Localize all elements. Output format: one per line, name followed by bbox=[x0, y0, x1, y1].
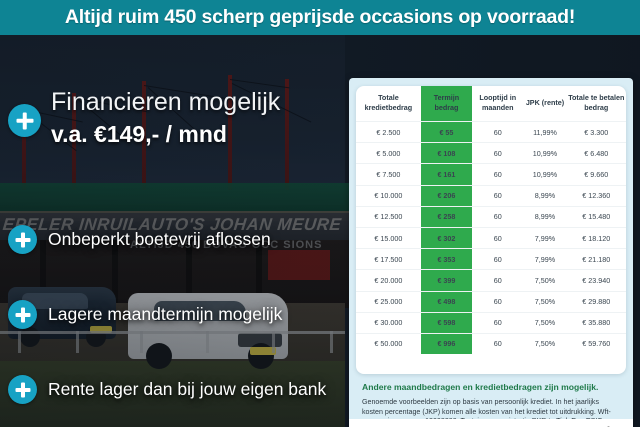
table-cell: 7,50% bbox=[523, 333, 566, 354]
afm-warning-bar: Let op! Geld lenen kost geld bbox=[349, 419, 633, 427]
table-cell: € 5.000 bbox=[356, 143, 421, 164]
table-cell: € 20.000 bbox=[356, 270, 421, 291]
table-row: € 25.000€ 498607,50%€ 29.880 bbox=[356, 291, 626, 312]
table-cell: € 50.000 bbox=[356, 333, 421, 354]
plus-circle-icon bbox=[8, 104, 41, 137]
table-cell: € 108 bbox=[421, 143, 472, 164]
table-cell: € 21.180 bbox=[567, 249, 626, 270]
benefits-list: Financieren mogelijk v.a. €149,- / mnd O… bbox=[0, 70, 348, 427]
table-row: € 17.500€ 353607,99%€ 21.180 bbox=[356, 249, 626, 270]
table-cell: 11,99% bbox=[523, 122, 566, 143]
benefit-label: Rente lager dan bij jouw eigen bank bbox=[48, 379, 326, 400]
table-cell: 7,50% bbox=[523, 270, 566, 291]
table-cell: € 161 bbox=[421, 164, 472, 185]
table-cell: € 17.500 bbox=[356, 249, 421, 270]
table-cell: 7,50% bbox=[523, 312, 566, 333]
table-row: € 50.000€ 996607,50%€ 59.760 bbox=[356, 333, 626, 354]
table-cell: € 12.500 bbox=[356, 206, 421, 227]
table-cell: 60 bbox=[472, 164, 523, 185]
table-cell: € 498 bbox=[421, 291, 472, 312]
hero-claim: Financieren mogelijk v.a. €149,- / mnd bbox=[8, 86, 346, 149]
rates-table: Totale kredietbedrag Termijn bedrag Loop… bbox=[356, 86, 626, 354]
note-title: Andere maandbedragen en kredietbedragen … bbox=[362, 382, 620, 393]
table-cell: 60 bbox=[472, 227, 523, 248]
table-cell: € 29.880 bbox=[567, 291, 626, 312]
table-cell: € 12.360 bbox=[567, 185, 626, 206]
column-header-monthly-amount: Termijn bedrag bbox=[421, 86, 472, 122]
table-cell: 60 bbox=[472, 206, 523, 227]
table-row: € 5.000€ 1086010,99%€ 6.480 bbox=[356, 143, 626, 164]
table-cell: € 258 bbox=[421, 206, 472, 227]
hero-claim-line1: Financieren mogelijk bbox=[51, 87, 280, 117]
table-cell: € 2.500 bbox=[356, 122, 421, 143]
benefit-item-1: Onbeperkt boetevrij aflossen bbox=[8, 225, 346, 254]
table-cell: € 7.500 bbox=[356, 164, 421, 185]
table-row: € 2.500€ 556011,99%€ 3.300 bbox=[356, 122, 626, 143]
table-cell: € 996 bbox=[421, 333, 472, 354]
plus-circle-icon bbox=[8, 225, 37, 254]
table-cell: 60 bbox=[472, 122, 523, 143]
hero-claim-text: Financieren mogelijk v.a. €149,- / mnd bbox=[51, 86, 280, 149]
table-cell: € 302 bbox=[421, 227, 472, 248]
table-row: € 10.000€ 206608,99%€ 12.360 bbox=[356, 185, 626, 206]
table-cell: € 399 bbox=[421, 270, 472, 291]
table-row: € 30.000€ 598607,50%€ 35.880 bbox=[356, 312, 626, 333]
table-cell: 7,99% bbox=[523, 227, 566, 248]
table-cell: € 59.760 bbox=[567, 333, 626, 354]
table-row: € 7.500€ 1616010,99%€ 9.660 bbox=[356, 164, 626, 185]
rates-table-body: € 2.500€ 556011,99%€ 3.300€ 5.000€ 10860… bbox=[356, 122, 626, 355]
table-cell: € 15.480 bbox=[567, 206, 626, 227]
column-header-total-payable: Totale te betalen bedrag bbox=[567, 86, 626, 122]
table-cell: 10,99% bbox=[523, 143, 566, 164]
table-cell: 7,50% bbox=[523, 291, 566, 312]
promo-banner-text: Altijd ruim 450 scherp geprijsde occasio… bbox=[65, 6, 575, 29]
rates-table-panel: Totale kredietbedrag Termijn bedrag Loop… bbox=[356, 86, 626, 374]
table-cell: 10,99% bbox=[523, 164, 566, 185]
table-cell: 60 bbox=[472, 333, 523, 354]
table-cell: € 353 bbox=[421, 249, 472, 270]
benefit-item-2: Lagere maandtermijn mogelijk bbox=[8, 300, 346, 329]
table-cell: € 25.000 bbox=[356, 291, 421, 312]
table-cell: 60 bbox=[472, 270, 523, 291]
table-cell: 8,99% bbox=[523, 206, 566, 227]
column-header-total-credit: Totale kredietbedrag bbox=[356, 86, 421, 122]
table-cell: 8,99% bbox=[523, 185, 566, 206]
table-cell: € 23.940 bbox=[567, 270, 626, 291]
table-cell: € 35.880 bbox=[567, 312, 626, 333]
table-cell: 60 bbox=[472, 291, 523, 312]
table-cell: € 18.120 bbox=[567, 227, 626, 248]
table-cell: € 6.480 bbox=[567, 143, 626, 164]
table-cell: 60 bbox=[472, 185, 523, 206]
table-cell: € 3.300 bbox=[567, 122, 626, 143]
benefit-label: Lagere maandtermijn mogelijk bbox=[48, 304, 282, 325]
table-cell: € 598 bbox=[421, 312, 472, 333]
table-cell: € 30.000 bbox=[356, 312, 421, 333]
column-header-term-months: Looptijd in maanden bbox=[472, 86, 523, 122]
table-cell: € 9.660 bbox=[567, 164, 626, 185]
table-cell: 60 bbox=[472, 312, 523, 333]
table-cell: € 206 bbox=[421, 185, 472, 206]
column-header-jkp: JPK (rente) bbox=[523, 86, 566, 122]
table-cell: € 10.000 bbox=[356, 185, 421, 206]
table-cell: 60 bbox=[472, 249, 523, 270]
table-cell: 60 bbox=[472, 143, 523, 164]
plus-circle-icon bbox=[8, 375, 37, 404]
benefit-label: Onbeperkt boetevrij aflossen bbox=[48, 229, 271, 250]
table-cell: € 15.000 bbox=[356, 227, 421, 248]
table-row: € 15.000€ 302607,99%€ 18.120 bbox=[356, 227, 626, 248]
benefit-item-3: Rente lager dan bij jouw eigen bank bbox=[8, 375, 346, 404]
hero-claim-line2: v.a. €149,- / mnd bbox=[51, 119, 280, 149]
loan-info-card: Totale kredietbedrag Termijn bedrag Loop… bbox=[349, 78, 633, 427]
plus-circle-icon bbox=[8, 300, 37, 329]
table-row: € 12.500€ 258608,99%€ 15.480 bbox=[356, 206, 626, 227]
table-header-row: Totale kredietbedrag Termijn bedrag Loop… bbox=[356, 86, 626, 122]
table-cell: € 55 bbox=[421, 122, 472, 143]
promo-banner: Altijd ruim 450 scherp geprijsde occasio… bbox=[0, 0, 640, 35]
table-row: € 20.000€ 399607,50%€ 23.940 bbox=[356, 270, 626, 291]
hero-photo-stage: EPELER INRUILAUTO'S JOHAN MEURE ALTIJD 4… bbox=[0, 35, 640, 427]
table-cell: 7,99% bbox=[523, 249, 566, 270]
